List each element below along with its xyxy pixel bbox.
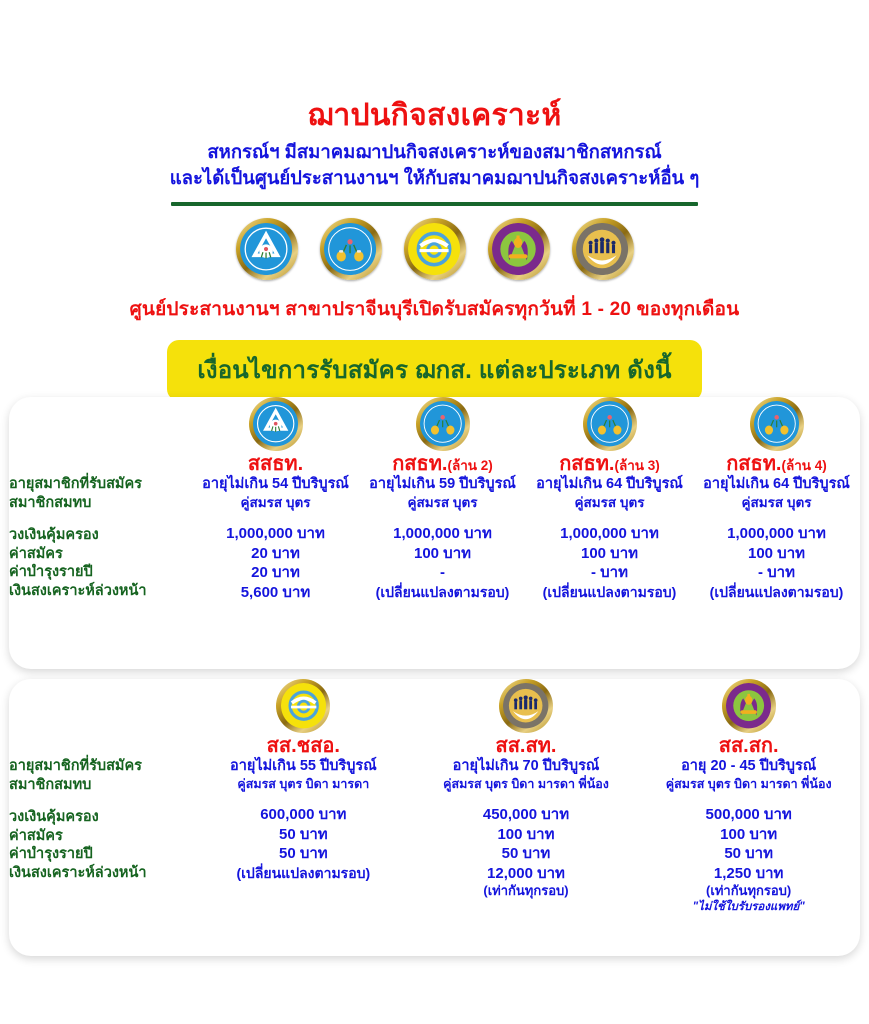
sk-emblem	[722, 679, 776, 733]
st-glyph	[576, 223, 628, 275]
row-label-annual-fee: ค่าบำรุงรายปี	[9, 846, 93, 862]
cell-coverage: 1,000,000 บาท	[526, 524, 693, 544]
cell-relatives: คู่สมรส บุตร บิดา มารดา พี่น้อง	[415, 776, 638, 792]
kosotho-glyph	[754, 401, 799, 446]
cell-advance: 12,000 บาท	[415, 864, 638, 884]
cell-coverage: 450,000 บาท	[415, 805, 638, 825]
cell-age: อายุไม่เกิน 59 ปีบริบูรณ์	[359, 475, 526, 494]
emblem-disc	[576, 223, 628, 275]
row-label-coverage: วงเงินคุ้มครอง	[9, 809, 99, 825]
column-title-text: สส.สท.	[496, 735, 557, 757]
data-column-2: อายุไม่เกิน 64 ปีบริบูรณ์ คู่สมรส บุตร 1…	[526, 475, 693, 602]
emblem-disc	[587, 401, 632, 446]
cell-age: อายุไม่เกิน 54 ปีบริบูรณ์	[192, 475, 359, 494]
cell-advance: 5,600 บาท	[192, 583, 359, 603]
kosotho-emblem	[416, 397, 470, 451]
cell-annual-fee: -	[359, 563, 526, 583]
cell-annual-fee: - บาท	[526, 563, 693, 583]
conditions-card-one: สสธท.	[9, 397, 860, 669]
subtitle-line-2: และได้เป็นศูนย์ประสานงานฯ ให้กับสมาคมฌาป…	[0, 165, 869, 191]
emblem-strip	[0, 218, 869, 280]
column-title-suffix: (ล้าน 3)	[614, 458, 659, 473]
label-gap	[9, 795, 192, 808]
cell-footnote: "ไม่ใช้ใบรับรองแพทย์"	[637, 900, 860, 915]
row-label-age: อายุสมาชิกที่รับสมัคร	[9, 476, 142, 492]
kosotho-glyph	[587, 401, 632, 446]
table-header-row: สสธท.	[9, 397, 860, 475]
banner-wrapper: เงื่อนไขการรับสมัคร ฌกส. แต่ละประเภท ดัง…	[0, 340, 869, 401]
cell-relatives: คู่สมรส บุตร บิดา มารดา	[192, 776, 415, 792]
kosotho-glyph	[324, 223, 376, 275]
label-gap	[9, 513, 192, 526]
cell-age: อายุไม่เกิน 55 ปีบริบูรณ์	[192, 757, 415, 776]
cell-advance: (เปลี่ยนแปลงตามรอบ)	[693, 583, 860, 601]
st-emblem	[499, 679, 553, 733]
cell-gap	[192, 511, 359, 524]
column-header-3: กสธท.(ล้าน 4)	[693, 397, 860, 475]
column-title-suffix: (ล้าน 4)	[781, 458, 826, 473]
cell-advance-note: (เท่ากันทุกรอบ)	[415, 883, 638, 900]
column-title-text: กสธท.	[726, 453, 781, 475]
column-title-text: สส.สก.	[719, 735, 779, 757]
column-title-text: กสธท.	[559, 453, 614, 475]
cell-gap	[637, 792, 860, 805]
sk-glyph	[726, 683, 771, 728]
cell-relatives: คู่สมรส บุตร	[192, 494, 359, 512]
row-label-age: อายุสมาชิกที่รับสมัคร	[9, 758, 142, 774]
cell-annual-fee: 20 บาท	[192, 563, 359, 583]
chso-emblem	[276, 679, 330, 733]
cell-advance: (เปลี่ยนแปลงตามรอบ)	[192, 864, 415, 882]
page-subtitle: สหกรณ์ฯ มีสมาคมฌาปนกิจสงเคราะห์ของสมาชิก…	[0, 139, 869, 192]
column-title: กสธท.(ล้าน 3)	[526, 453, 693, 475]
sasotho-glyph	[240, 223, 292, 275]
cell-application-fee: 100 บาท	[415, 825, 638, 845]
row-label-associate: สมาชิกสมทบ	[9, 777, 91, 793]
data-column-1: อายุไม่เกิน 70 ปีบริบูรณ์ คู่สมรส บุตร บ…	[415, 757, 638, 915]
emblem-disc	[492, 223, 544, 275]
row-label-application-fee: ค่าสมัคร	[9, 828, 63, 844]
emblem-disc	[420, 401, 465, 446]
sk-glyph	[492, 223, 544, 275]
column-title: สส.ชสอ.	[192, 735, 415, 757]
sasotho-emblem	[236, 218, 298, 280]
column-title-text: สสธท.	[248, 453, 303, 475]
row-labels-one: อายุสมาชิกที่รับสมัคร สมาชิกสมทบ วงเงินค…	[9, 475, 192, 602]
cell-age: อายุไม่เกิน 64 ปีบริบูรณ์	[693, 475, 860, 494]
cell-annual-fee: 50 บาท	[192, 844, 415, 864]
st-emblem	[572, 218, 634, 280]
chso-emblem	[404, 218, 466, 280]
column-title: สสธท.	[192, 453, 359, 475]
sasotho-glyph	[253, 401, 298, 446]
row-label-application-fee: ค่าสมัคร	[9, 546, 63, 562]
kosotho-emblem	[750, 397, 804, 451]
column-header-1: สส.สท.	[415, 679, 638, 757]
cell-age: อายุ 20 - 45 ปีบริบูรณ์	[637, 757, 860, 776]
header-spacer	[9, 679, 192, 757]
chso-glyph	[408, 223, 460, 275]
column-header-1: กสธท.(ล้าน 2)	[359, 397, 526, 475]
row-label-associate: สมาชิกสมทบ	[9, 495, 91, 511]
conditions-banner: เงื่อนไขการรับสมัคร ฌกส. แต่ละประเภท ดัง…	[167, 340, 701, 401]
table-body-row: อายุสมาชิกที่รับสมัคร สมาชิกสมทบ วงเงินค…	[9, 475, 860, 602]
row-label-annual-fee: ค่าบำรุงรายปี	[9, 564, 93, 580]
column-title: สส.สท.	[415, 735, 638, 757]
cell-relatives: คู่สมรส บุตร บิดา มารดา พี่น้อง	[637, 776, 860, 792]
page-root: ฌาปนกิจสงเคราะห์ สหกรณ์ฯ มีสมาคมฌาปนกิจส…	[0, 0, 869, 1024]
cell-advance-note: (เท่ากันทุกรอบ)	[637, 883, 860, 900]
emblem-disc	[281, 683, 326, 728]
subtitle-line-1: สหกรณ์ฯ มีสมาคมฌาปนกิจสงเคราะห์ของสมาชิก…	[0, 139, 869, 165]
column-header-0: สสธท.	[192, 397, 359, 475]
emblem-disc	[503, 683, 548, 728]
cell-relatives: คู่สมรส บุตร	[693, 494, 860, 512]
column-title-suffix: (ล้าน 2)	[447, 458, 492, 473]
table-header-row: สส.ชสอ.	[9, 679, 860, 757]
kosotho-emblem	[583, 397, 637, 451]
cell-annual-fee: - บาท	[693, 563, 860, 583]
cell-coverage: 1,000,000 บาท	[359, 524, 526, 544]
cell-annual-fee: 50 บาท	[637, 844, 860, 864]
column-title: กสธท.(ล้าน 4)	[693, 453, 860, 475]
cell-gap	[526, 511, 693, 524]
conditions-table-one: สสธท.	[9, 397, 860, 602]
emblem-disc	[726, 683, 771, 728]
page-header: ฌาปนกิจสงเคราะห์ สหกรณ์ฯ มีสมาคมฌาปนกิจส…	[0, 0, 869, 206]
row-label-coverage: วงเงินคุ้มครอง	[9, 527, 99, 543]
cell-coverage: 600,000 บาท	[192, 805, 415, 825]
cell-age: อายุไม่เกิน 70 ปีบริบูรณ์	[415, 757, 638, 776]
sk-emblem	[488, 218, 550, 280]
data-column-0: อายุไม่เกิน 54 ปีบริบูรณ์ คู่สมรส บุตร 1…	[192, 475, 359, 602]
cell-age: อายุไม่เกิน 64 ปีบริบูรณ์	[526, 475, 693, 494]
green-divider	[171, 202, 698, 206]
column-header-2: สส.สก.	[637, 679, 860, 757]
data-column-1: อายุไม่เกิน 59 ปีบริบูรณ์ คู่สมรส บุตร 1…	[359, 475, 526, 602]
column-title: สส.สก.	[637, 735, 860, 757]
cell-application-fee: 100 บาท	[637, 825, 860, 845]
emblem-disc	[324, 223, 376, 275]
cell-advance: (เปลี่ยนแปลงตามรอบ)	[526, 583, 693, 601]
cell-coverage: 1,000,000 บาท	[693, 524, 860, 544]
page-title: ฌาปนกิจสงเคราะห์	[0, 98, 869, 135]
kosotho-glyph	[420, 401, 465, 446]
emblem-disc	[240, 223, 292, 275]
row-label-advance: เงินสงเคราะห์ล่วงหน้า	[9, 865, 147, 881]
cell-relatives: คู่สมรส บุตร	[359, 494, 526, 512]
cell-coverage: 500,000 บาท	[637, 805, 860, 825]
chso-glyph	[281, 683, 326, 728]
cell-annual-fee: 50 บาท	[415, 844, 638, 864]
registration-notice: ศูนย์ประสานงานฯ สาขาปราจีนบุรีเปิดรับสมั…	[0, 294, 869, 324]
emblem-disc	[253, 401, 298, 446]
emblem-disc	[754, 401, 799, 446]
column-header-0: สส.ชสอ.	[192, 679, 415, 757]
conditions-table-two: สส.ชสอ.	[9, 679, 860, 915]
cell-application-fee: 100 บาท	[359, 544, 526, 564]
conditions-card-two: สส.ชสอ.	[9, 679, 860, 956]
table-body-row: อายุสมาชิกที่รับสมัคร สมาชิกสมทบ วงเงินค…	[9, 757, 860, 915]
data-column-3: อายุไม่เกิน 64 ปีบริบูรณ์ คู่สมรส บุตร 1…	[693, 475, 860, 602]
column-title: กสธท.(ล้าน 2)	[359, 453, 526, 475]
kosotho-emblem	[320, 218, 382, 280]
cell-relatives: คู่สมรส บุตร	[526, 494, 693, 512]
st-glyph	[503, 683, 548, 728]
column-title-text: สส.ชสอ.	[267, 735, 340, 757]
cell-application-fee: 20 บาท	[192, 544, 359, 564]
cell-gap	[415, 792, 638, 805]
header-spacer	[9, 397, 192, 475]
cell-application-fee: 100 บาท	[693, 544, 860, 564]
cell-application-fee: 50 บาท	[192, 825, 415, 845]
row-labels-two: อายุสมาชิกที่รับสมัคร สมาชิกสมทบ วงเงินค…	[9, 757, 192, 915]
data-column-0: อายุไม่เกิน 55 ปีบริบูรณ์ คู่สมรส บุตร บ…	[192, 757, 415, 915]
column-header-2: กสธท.(ล้าน 3)	[526, 397, 693, 475]
cell-gap	[359, 511, 526, 524]
cell-application-fee: 100 บาท	[526, 544, 693, 564]
cell-coverage: 1,000,000 บาท	[192, 524, 359, 544]
cell-advance: (เปลี่ยนแปลงตามรอบ)	[359, 583, 526, 601]
sasotho-emblem	[249, 397, 303, 451]
emblem-disc	[408, 223, 460, 275]
column-title-text: กสธท.	[392, 453, 447, 475]
cell-gap	[693, 511, 860, 524]
cell-advance: 1,250 บาท	[637, 864, 860, 884]
data-column-2: อายุ 20 - 45 ปีบริบูรณ์ คู่สมรส บุตร บิด…	[637, 757, 860, 915]
cell-gap	[192, 792, 415, 805]
row-label-advance: เงินสงเคราะห์ล่วงหน้า	[9, 583, 147, 599]
